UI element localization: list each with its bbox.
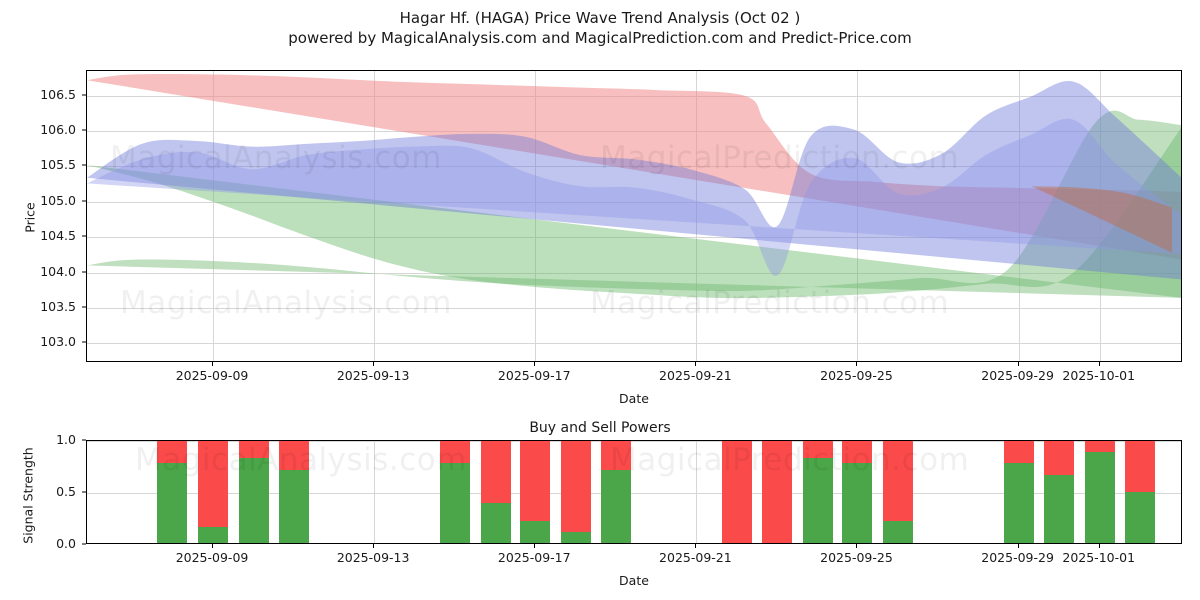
buysell-x-tick-mark (212, 544, 213, 548)
price-y-tick-label: 106.5 (24, 89, 76, 101)
buy-power-segment (440, 463, 470, 543)
buysell-y-tick-mark (82, 544, 86, 545)
price-x-tick-mark (695, 362, 696, 366)
sell-power-segment (1044, 441, 1074, 475)
price-y-tick-label: 104.0 (24, 266, 76, 278)
gridline-vertical (696, 441, 697, 543)
sell-power-segment (279, 441, 309, 470)
signal-bar[interactable] (1125, 441, 1155, 543)
buysell-x-tick-mark (1018, 544, 1019, 548)
page-subtitle: powered by MagicalAnalysis.com and Magic… (0, 28, 1200, 48)
price-x-tick-label: 2025-09-29 (981, 369, 1054, 383)
buy-power-segment (198, 527, 228, 543)
price-x-tick-label: 2025-09-21 (659, 369, 732, 383)
price-x-tick-label: 2025-09-09 (176, 369, 249, 383)
price-x-tick-label: 2025-09-25 (820, 369, 893, 383)
price-y-tick-mark (82, 130, 86, 131)
price-y-tick-label: 105.5 (24, 159, 76, 171)
signal-bar[interactable] (601, 441, 631, 543)
buysell-x-tick-mark (856, 544, 857, 548)
signal-bar[interactable] (1044, 441, 1074, 543)
sell-power-segment (157, 441, 187, 463)
buy-power-segment (481, 503, 511, 543)
price-y-tick-mark (82, 271, 86, 272)
page-title: Hagar Hf. (HAGA) Price Wave Trend Analys… (0, 8, 1200, 28)
buysell-x-tick-label: 2025-09-29 (981, 551, 1054, 565)
sell-power-segment (561, 441, 591, 532)
buy-power-segment (239, 458, 269, 543)
signal-bar[interactable] (1085, 441, 1115, 543)
price-x-tick-label: 2025-09-13 (337, 369, 410, 383)
signal-bar[interactable] (1004, 441, 1034, 543)
price-x-tick-mark (212, 362, 213, 366)
sell-power-segment (722, 441, 752, 543)
price-wave-chart[interactable] (86, 70, 1182, 362)
price-x-tick-mark (856, 362, 857, 366)
sell-power-segment (762, 441, 792, 543)
price-y-tick-mark (82, 200, 86, 201)
buysell-x-tick-label: 2025-09-25 (820, 551, 893, 565)
price-x-tick-label: 2025-09-17 (498, 369, 571, 383)
chart-page: Hagar Hf. (HAGA) Price Wave Trend Analys… (0, 0, 1200, 600)
signal-bar[interactable] (157, 441, 187, 543)
buysell-y-tick-mark (82, 440, 86, 441)
price-x-tick-mark (1099, 362, 1100, 366)
price-y-tick-label: 103.5 (24, 301, 76, 313)
buysell-x-tick-label: 2025-10-01 (1062, 551, 1135, 565)
buy-power-segment (1044, 475, 1074, 543)
buysell-x-axis-label: Date (584, 573, 684, 588)
signal-bar[interactable] (520, 441, 550, 543)
price-y-axis-label: Price (23, 178, 38, 258)
price-x-tick-mark (1018, 362, 1019, 366)
title-block: Hagar Hf. (HAGA) Price Wave Trend Analys… (0, 8, 1200, 48)
buy-power-segment (520, 521, 550, 543)
signal-bar[interactable] (198, 441, 228, 543)
sell-power-segment (1085, 441, 1115, 452)
price-x-tick-mark (534, 362, 535, 366)
price-y-tick-mark (82, 165, 86, 166)
price-y-tick-mark (82, 342, 86, 343)
buy-power-segment (883, 521, 913, 543)
buysell-x-tick-mark (373, 544, 374, 548)
buysell-y-tick-mark (82, 492, 86, 493)
signal-bar[interactable] (842, 441, 872, 543)
price-x-axis-label: Date (584, 391, 684, 406)
signal-bar[interactable] (803, 441, 833, 543)
buy-power-segment (157, 463, 187, 543)
buy-power-segment (601, 470, 631, 543)
buysell-x-tick-mark (1099, 544, 1100, 548)
sell-power-segment (601, 441, 631, 470)
signal-bar[interactable] (279, 441, 309, 543)
buysell-chart-title: Buy and Sell Powers (0, 420, 1200, 436)
buy-power-segment (1004, 463, 1034, 543)
sell-power-segment (520, 441, 550, 521)
price-y-tick-mark (82, 236, 86, 237)
signal-bar[interactable] (762, 441, 792, 543)
buysell-x-tick-mark (534, 544, 535, 548)
price-x-tick-mark (373, 362, 374, 366)
sell-power-segment (440, 441, 470, 463)
sell-power-segment (883, 441, 913, 521)
buysell-x-tick-label: 2025-09-09 (176, 551, 249, 565)
sell-power-segment (1125, 441, 1155, 492)
price-y-tick-label: 106.0 (24, 124, 76, 136)
price-band-layer (87, 71, 1182, 362)
buy-power-segment (842, 463, 872, 543)
buysell-x-tick-label: 2025-09-21 (659, 551, 732, 565)
price-x-tick-label: 2025-10-01 (1062, 369, 1135, 383)
gridline-vertical (374, 441, 375, 543)
sell-power-segment (239, 441, 269, 458)
signal-bar[interactable] (440, 441, 470, 543)
buy-power-segment (1125, 492, 1155, 543)
price-y-tick-mark (82, 306, 86, 307)
buy-sell-powers-chart[interactable] (86, 440, 1182, 544)
sell-power-segment (481, 441, 511, 503)
sell-power-segment (198, 441, 228, 527)
buysell-y-axis-label: Signal Strength (21, 434, 36, 558)
buysell-x-tick-label: 2025-09-13 (337, 551, 410, 565)
buysell-x-tick-mark (695, 544, 696, 548)
price-y-tick-mark (82, 94, 86, 95)
signal-bar[interactable] (481, 441, 511, 543)
buysell-x-tick-label: 2025-09-17 (498, 551, 571, 565)
sell-power-segment (842, 441, 872, 463)
signal-bar[interactable] (239, 441, 269, 543)
signal-bar[interactable] (561, 441, 591, 543)
buy-power-segment (279, 470, 309, 543)
signal-bar[interactable] (883, 441, 913, 543)
buy-power-segment (1085, 452, 1115, 543)
signal-bar[interactable] (722, 441, 752, 543)
sell-power-segment (803, 441, 833, 458)
price-y-tick-label: 103.0 (24, 336, 76, 348)
buy-power-segment (561, 532, 591, 543)
sell-power-segment (1004, 441, 1034, 463)
buy-power-segment (803, 458, 833, 543)
